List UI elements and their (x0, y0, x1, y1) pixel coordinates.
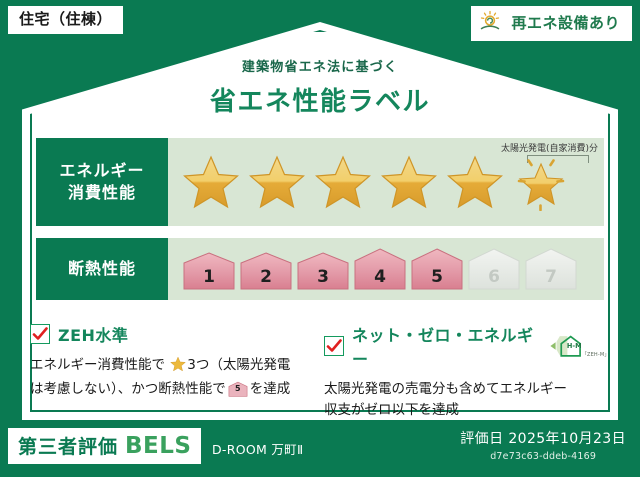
label-title: 建築物省エネ法に基づく 省エネ性能ラベル (0, 56, 640, 118)
energy-performance-rating: 太陽光発電(自家消費)分 (168, 138, 604, 226)
insulation-level-number: 1 (203, 267, 215, 291)
star-icon (380, 154, 438, 210)
insulation-level-badge: 1 (182, 251, 236, 291)
zeh-m-logo-icon: H-M 「ZEH-M」 (549, 333, 608, 359)
insulation-level-number: 6 (488, 267, 500, 291)
energy-performance-row: エネルギー 消費性能 太陽光発電(自家消費)分 (36, 138, 604, 226)
renewable-energy-badge: 再エネ設備あり (471, 6, 632, 41)
insulation-performance-row: 断熱性能 1 (36, 238, 604, 300)
zeh-desc-part-c: は考慮しない）、かつ断熱性能で (30, 381, 226, 397)
title-main: 省エネ性能ラベル (0, 81, 640, 118)
zeh-desc-part-d: を達成 (250, 381, 291, 397)
zeh-standard-description: エネルギー消費性能で 3つ（太陽光発電 は考慮しない）、かつ断熱性能で 5 を達… (30, 355, 314, 400)
sun-icon (479, 10, 505, 36)
zeh-desc-part-a: エネルギー消費性能で (30, 357, 165, 373)
insulation-level-badge: 3 (296, 251, 350, 291)
net-zero-energy-title: ネット・ゼロ・エネルギー (352, 322, 539, 370)
zeh-m-logo-caption: 「ZEH-M」 (582, 351, 608, 359)
zeh-standard-block: ZEH水準 エネルギー消費性能で 3つ（太陽光発電 は考慮しない）、かつ断熱性能… (30, 322, 314, 400)
insulation-level-number: 3 (317, 267, 329, 291)
insulation-level-badge: 4 (353, 247, 407, 291)
insulation-level-number: 4 (374, 267, 386, 291)
star-icon (182, 154, 240, 210)
insulation-level-badge: 6 (467, 247, 521, 291)
label-footer: 第三者評価 BELS D-ROOM 万町Ⅱ 評価日 2025年10月23日 d7… (0, 420, 640, 477)
zeh-desc-part-b: 3つ（太陽光発電 (187, 357, 290, 373)
energy-label-line1: エネルギー (59, 160, 144, 182)
evaluation-info: 評価日 2025年10月23日 d7e73c63-ddeb-4169 (460, 428, 626, 462)
bels-certification-badge: 第三者評価 BELS (8, 428, 201, 464)
star-icon-inline (166, 360, 186, 376)
star-icon (248, 154, 306, 210)
star-icon (446, 154, 504, 210)
evaluation-date: 評価日 2025年10月23日 (460, 428, 626, 448)
renewable-energy-label: 再エネ設備あり (511, 15, 620, 32)
star-rating (182, 153, 570, 211)
checkbox-checked-icon (30, 324, 50, 344)
insulation-level-number: 2 (260, 267, 272, 291)
insulation-level-number: 5 (431, 267, 443, 291)
bels-jp-label: 第三者評価 (18, 432, 118, 459)
insulation-level-badge: 7 (524, 247, 578, 291)
insulation-level-number: 7 (545, 267, 557, 291)
evaluation-id: d7e73c63-ddeb-4169 (460, 451, 626, 462)
solar-star-icon (512, 153, 570, 211)
energy-performance-label: 住宅（住棟） 再エネ設備あり 建築物省エネ法に基づく 省エネ性能ラベル (0, 0, 640, 477)
building-name: D-ROOM 万町Ⅱ (212, 439, 303, 458)
star-icon (314, 154, 372, 210)
net-zero-energy-header: ネット・ゼロ・エネルギー H-M 「ZEH-M」 (324, 322, 608, 370)
energy-label-line2: 消費性能 (68, 182, 136, 204)
zeh-standard-title: ZEH水準 (58, 322, 128, 346)
zeh-m-logo-text: H-M (567, 342, 581, 350)
insulation-performance-rating: 1 2 3 (168, 238, 604, 300)
insulation-label: 断熱性能 (68, 258, 136, 280)
insulation-level-badge: 5 (410, 247, 464, 291)
bels-en-label: BELS (125, 433, 191, 459)
nze-desc-part-a: 太陽光発電の売電分も含めてエネルギー (324, 381, 567, 397)
energy-performance-label-box: エネルギー 消費性能 (36, 138, 168, 226)
house-inline-number: 5 (228, 383, 248, 395)
insulation-performance-label-box: 断熱性能 (36, 238, 168, 300)
net-zero-energy-block: ネット・ゼロ・エネルギー H-M 「ZEH-M」 太陽光発電の売電分も含めてエネ… (324, 322, 608, 421)
nze-desc-part-b: 収支がゼロ以下を達成 (324, 402, 459, 418)
net-zero-energy-description: 太陽光発電の売電分も含めてエネルギー 収支がゼロ以下を達成 (324, 379, 608, 421)
insulation-level-scale: 1 2 3 (182, 247, 578, 291)
checkbox-checked-icon (324, 336, 344, 356)
housing-type-badge: 住宅（住棟） (8, 6, 123, 34)
zeh-standard-header: ZEH水準 (30, 322, 314, 346)
insulation-level-badge: 2 (239, 251, 293, 291)
housing-type-label: 住宅（住棟） (19, 10, 112, 28)
title-subtitle: 建築物省エネ法に基づく (0, 56, 640, 75)
house-shape-icon-inline: 5 (228, 381, 248, 397)
